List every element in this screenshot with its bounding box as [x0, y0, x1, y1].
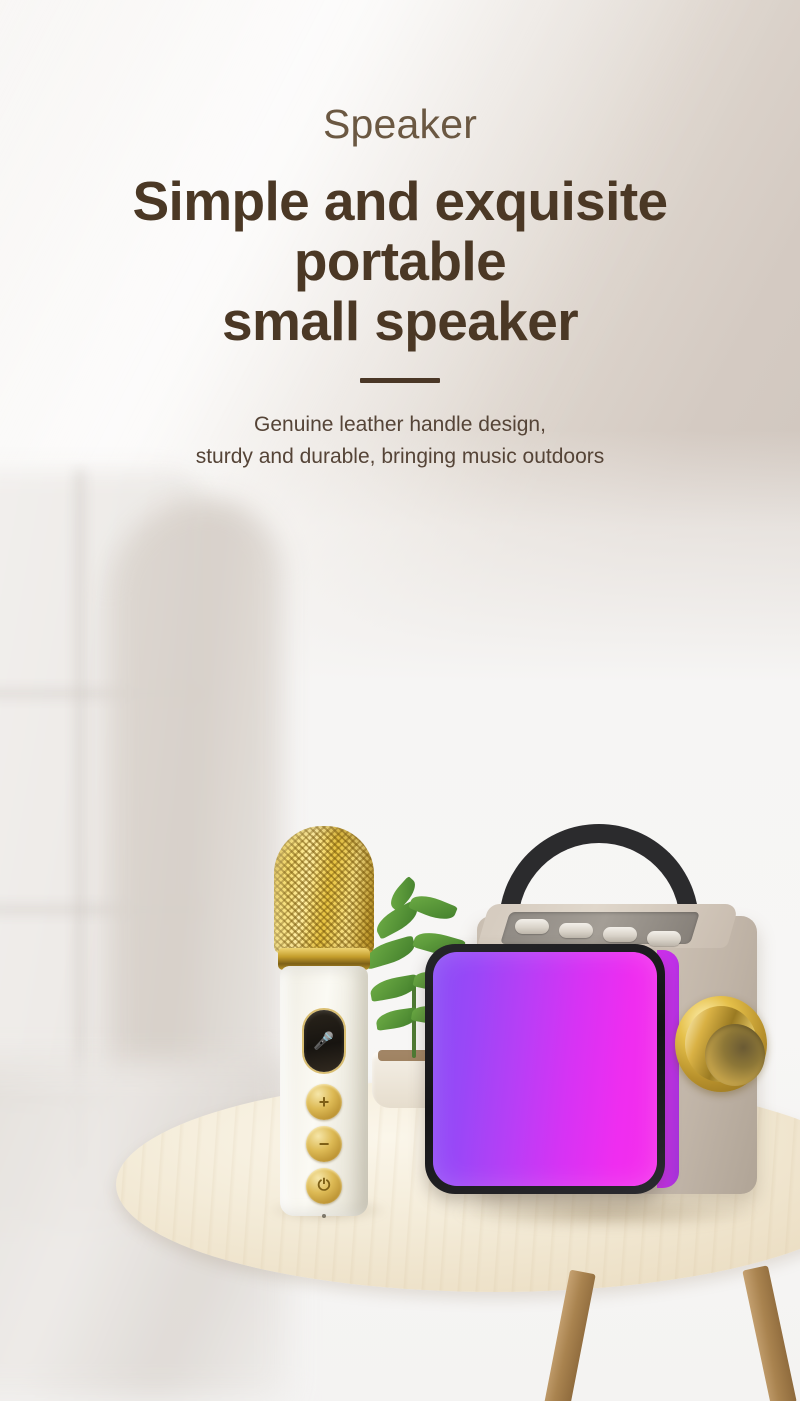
karaoke-microphone: 🎤 + − ⏻ [272, 826, 376, 1216]
headline-line-3: small speaker [0, 293, 800, 351]
subtitle-line-1: Genuine leather handle design, [0, 409, 800, 441]
microphone-power-button[interactable]: ⏻ [306, 1168, 342, 1204]
microphone-volume-up-button[interactable]: + [306, 1084, 342, 1120]
speaker-knob-center [705, 1024, 765, 1086]
product-banner: Speaker Simple and exquisite portable sm… [0, 0, 800, 1401]
speaker-rgb-light-panel [433, 952, 657, 1186]
page-subtitle: Genuine leather handle design, sturdy an… [0, 409, 800, 473]
subtitle-line-2: sturdy and durable, bringing music outdo… [0, 441, 800, 473]
header-block: Speaker Simple and exquisite portable sm… [0, 0, 800, 473]
volume-up-glyph: + [319, 1093, 330, 1111]
speaker-top-button[interactable] [647, 931, 681, 946]
speaker-knob-ring [685, 1006, 757, 1082]
headline-line-1: Simple and exquisite [0, 173, 800, 231]
microphone-led-indicator [322, 1214, 326, 1218]
microphone-mode-badge: 🎤 [304, 1010, 344, 1072]
power-glyph: ⏻ [318, 1178, 331, 1194]
headline-line-2: portable [0, 233, 800, 291]
page-title: Simple and exquisite portable small spea… [0, 173, 800, 350]
page-eyebrow: Speaker [0, 104, 800, 145]
speaker-top-button[interactable] [559, 923, 593, 938]
microphone-icon: 🎤 [313, 1033, 334, 1050]
speaker-top-button[interactable] [603, 927, 637, 942]
volume-down-glyph: − [319, 1135, 330, 1153]
portable-speaker [425, 824, 775, 1224]
speaker-top-button[interactable] [515, 919, 549, 934]
microphone-volume-down-button[interactable]: − [306, 1126, 342, 1162]
title-divider [360, 378, 440, 383]
microphone-grille [274, 826, 374, 954]
speaker-gold-knob[interactable] [675, 996, 767, 1092]
